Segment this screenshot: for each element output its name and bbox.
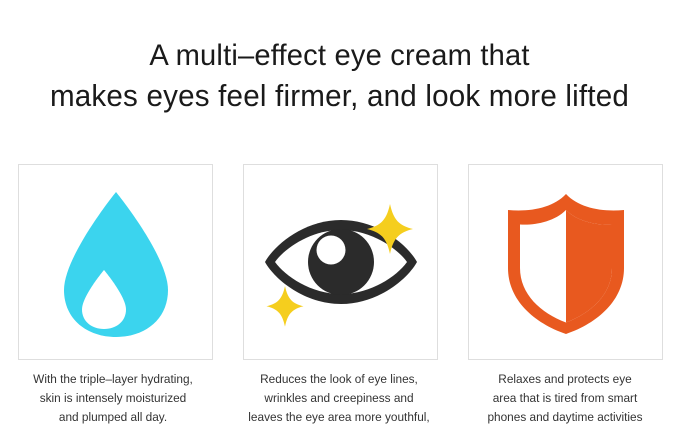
caption-hydrating: With the triple–layer hydrating, skin is… bbox=[3, 370, 222, 432]
eye-with-sparkles-icon bbox=[261, 182, 421, 342]
caption-line: phones and daytime activities bbox=[455, 408, 674, 427]
feature-panel-hydrating bbox=[18, 164, 213, 360]
caption-line: Reduces the look of eye lines, bbox=[229, 370, 448, 389]
caption-line: and plumped all day. bbox=[3, 408, 222, 427]
headline-line-1: A multi–effect eye cream that bbox=[10, 36, 669, 76]
caption-wrinkles: Reduces the look of eye lines, wrinkles … bbox=[229, 370, 448, 432]
feature-panel-protection bbox=[468, 164, 663, 360]
feature-panels bbox=[18, 164, 663, 360]
caption-line: skin is intensely moisturized bbox=[3, 389, 222, 408]
headline-line-2: makes eyes feel firmer, and look more li… bbox=[10, 76, 669, 116]
caption-protection: Relaxes and protects eye area that is ti… bbox=[455, 370, 674, 432]
feature-panel-wrinkles bbox=[243, 164, 438, 360]
water-drop-icon bbox=[36, 182, 196, 342]
feature-captions: With the triple–layer hydrating, skin is… bbox=[0, 370, 679, 432]
caption-line: area that is tired from smart bbox=[455, 389, 674, 408]
caption-line: With the triple–layer hydrating, bbox=[3, 370, 222, 389]
caption-line: wrinkles and creepiness and bbox=[229, 389, 448, 408]
caption-line: leaves the eye area more youthful, bbox=[229, 408, 448, 427]
caption-line: Relaxes and protects eye bbox=[455, 370, 674, 389]
shield-icon bbox=[486, 182, 646, 342]
page-title: A multi–effect eye cream that makes eyes… bbox=[10, 36, 669, 116]
promo-graphic: A multi–effect eye cream that makes eyes… bbox=[0, 0, 679, 437]
